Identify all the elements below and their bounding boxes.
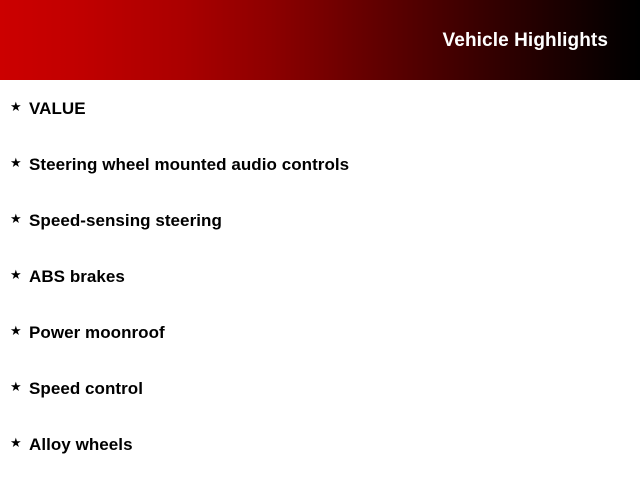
list-item: ★ Power moonroof — [0, 304, 640, 360]
list-item-label: Power moonroof — [29, 324, 165, 341]
list-item-label: VALUE — [29, 100, 86, 117]
list-item: ★ ABS brakes — [0, 248, 640, 304]
star-icon: ★ — [10, 269, 29, 282]
list-item-label: Speed control — [29, 380, 143, 397]
list-item-label: Steering wheel mounted audio controls — [29, 156, 349, 173]
star-icon: ★ — [10, 157, 29, 170]
list-item-label: Alloy wheels — [29, 436, 133, 453]
header-banner: Vehicle Highlights — [0, 0, 640, 80]
vehicle-highlights-page: Vehicle Highlights ★ VALUE ★ Steering wh… — [0, 0, 640, 480]
list-item: ★ Alloy wheels — [0, 416, 640, 472]
star-icon: ★ — [10, 213, 29, 226]
star-icon: ★ — [10, 437, 29, 450]
list-item: ★ Speed-sensing steering — [0, 192, 640, 248]
list-item: ★ Steering wheel mounted audio controls — [0, 136, 640, 192]
page-title: Vehicle Highlights — [443, 31, 640, 50]
star-icon: ★ — [10, 381, 29, 394]
list-item-label: ABS brakes — [29, 268, 125, 285]
vehicle-highlights-list: ★ VALUE ★ Steering wheel mounted audio c… — [0, 80, 640, 472]
list-item: ★ Speed control — [0, 360, 640, 416]
star-icon: ★ — [10, 325, 29, 338]
star-icon: ★ — [10, 101, 29, 114]
list-item-label: Speed-sensing steering — [29, 212, 222, 229]
list-item: ★ VALUE — [0, 80, 640, 136]
